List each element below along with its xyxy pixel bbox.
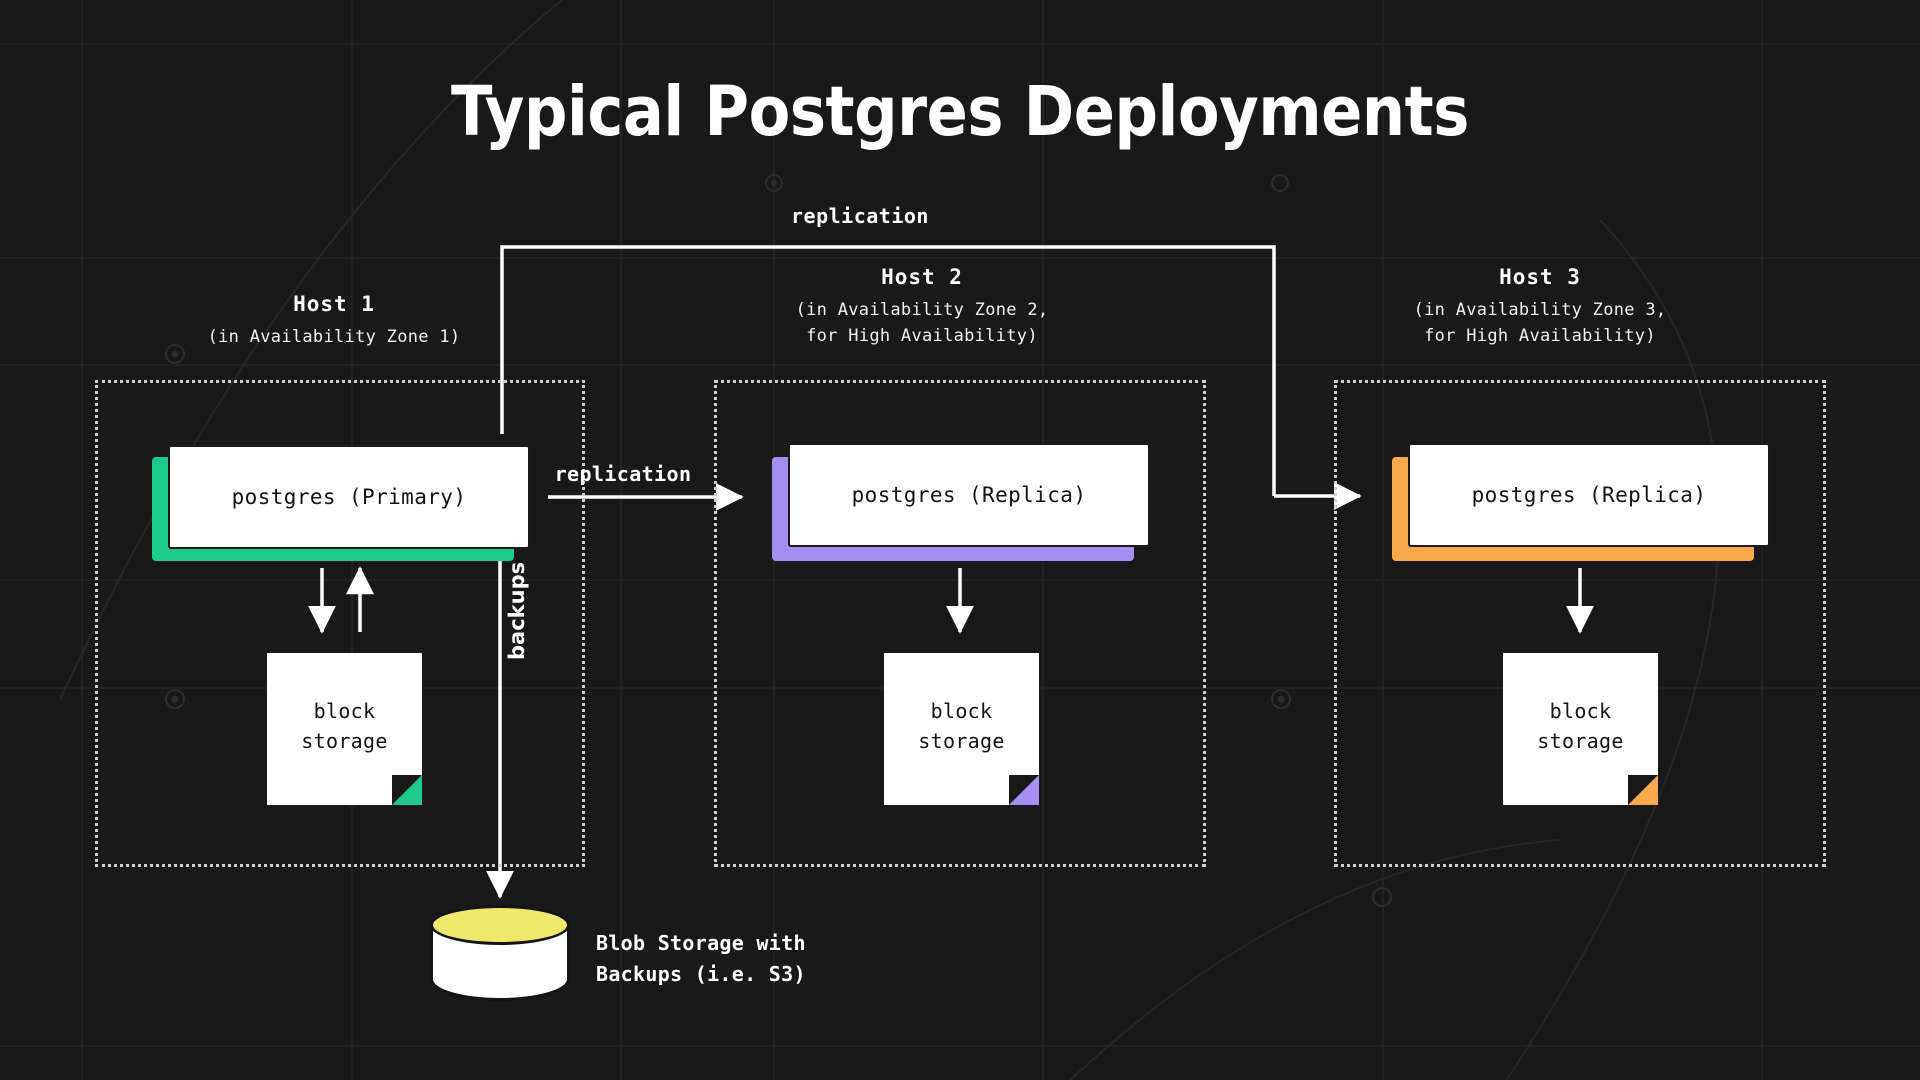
backups-label: backups xyxy=(505,562,529,660)
blob-storage-top xyxy=(430,905,570,945)
postgres-replica-2-label: postgres (Replica) xyxy=(852,483,1087,507)
postgres-replica-3-card: postgres (Replica) xyxy=(1408,443,1770,547)
block-storage-2-line-2: storage xyxy=(918,726,1004,756)
host-header-3: Host 3 (in Availability Zone 3, for High… xyxy=(1330,265,1750,350)
block-storage-2: block storage xyxy=(884,653,1039,805)
postgres-replica-2-card: postgres (Replica) xyxy=(788,443,1150,547)
blob-storage-label-line-1: Blob Storage with xyxy=(596,928,806,959)
postgres-node-primary: postgres (Primary) xyxy=(152,443,514,547)
host-header-1: Host 1 (in Availability Zone 1) xyxy=(124,292,544,350)
postgres-primary-label: postgres (Primary) xyxy=(232,485,467,509)
blob-storage-label-line-2: Backups (i.e. S3) xyxy=(596,959,806,990)
host-header-2: Host 2 (in Availability Zone 2, for High… xyxy=(712,265,1132,350)
block-storage-2-fold-icon xyxy=(1009,775,1039,805)
top-replication-label: replication xyxy=(730,204,990,228)
block-storage-1-fold-icon xyxy=(392,775,422,805)
host-1-name: Host 1 xyxy=(124,292,544,316)
blob-storage-label: Blob Storage with Backups (i.e. S3) xyxy=(596,928,806,990)
postgres-node-replica-2: postgres (Replica) xyxy=(772,443,1134,547)
block-storage-1-line-2: storage xyxy=(301,726,387,756)
block-storage-2-line-1: block xyxy=(931,696,993,726)
blob-storage-cylinder xyxy=(430,905,570,1017)
host-3-subtitle: (in Availability Zone 3, for High Availa… xyxy=(1330,297,1750,350)
host-2-subtitle: (in Availability Zone 2, for High Availa… xyxy=(712,297,1132,350)
host-3-subtitle-line-2: for High Availability) xyxy=(1330,323,1750,349)
host-3-subtitle-line-1: (in Availability Zone 3, xyxy=(1330,297,1750,323)
block-storage-1: block storage xyxy=(267,653,422,805)
block-storage-3-fold-icon xyxy=(1628,775,1658,805)
block-storage-1-line-1: block xyxy=(314,696,376,726)
postgres-node-replica-3: postgres (Replica) xyxy=(1392,443,1754,547)
mid-replication-label: replication xyxy=(523,462,723,486)
block-storage-3-line-1: block xyxy=(1550,696,1612,726)
host-2-subtitle-line-1: (in Availability Zone 2, xyxy=(712,297,1132,323)
host-3-name: Host 3 xyxy=(1330,265,1750,289)
postgres-replica-3-label: postgres (Replica) xyxy=(1472,483,1707,507)
host-2-name: Host 2 xyxy=(712,265,1132,289)
block-storage-3-line-2: storage xyxy=(1537,726,1623,756)
host-2-subtitle-line-2: for High Availability) xyxy=(712,323,1132,349)
block-storage-3: block storage xyxy=(1503,653,1658,805)
postgres-primary-card: postgres (Primary) xyxy=(168,445,530,549)
host-1-subtitle: (in Availability Zone 1) xyxy=(124,324,544,350)
host-1-subtitle-line-1: (in Availability Zone 1) xyxy=(124,324,544,350)
page-title: Typical Postgres Deployments xyxy=(115,72,1805,152)
